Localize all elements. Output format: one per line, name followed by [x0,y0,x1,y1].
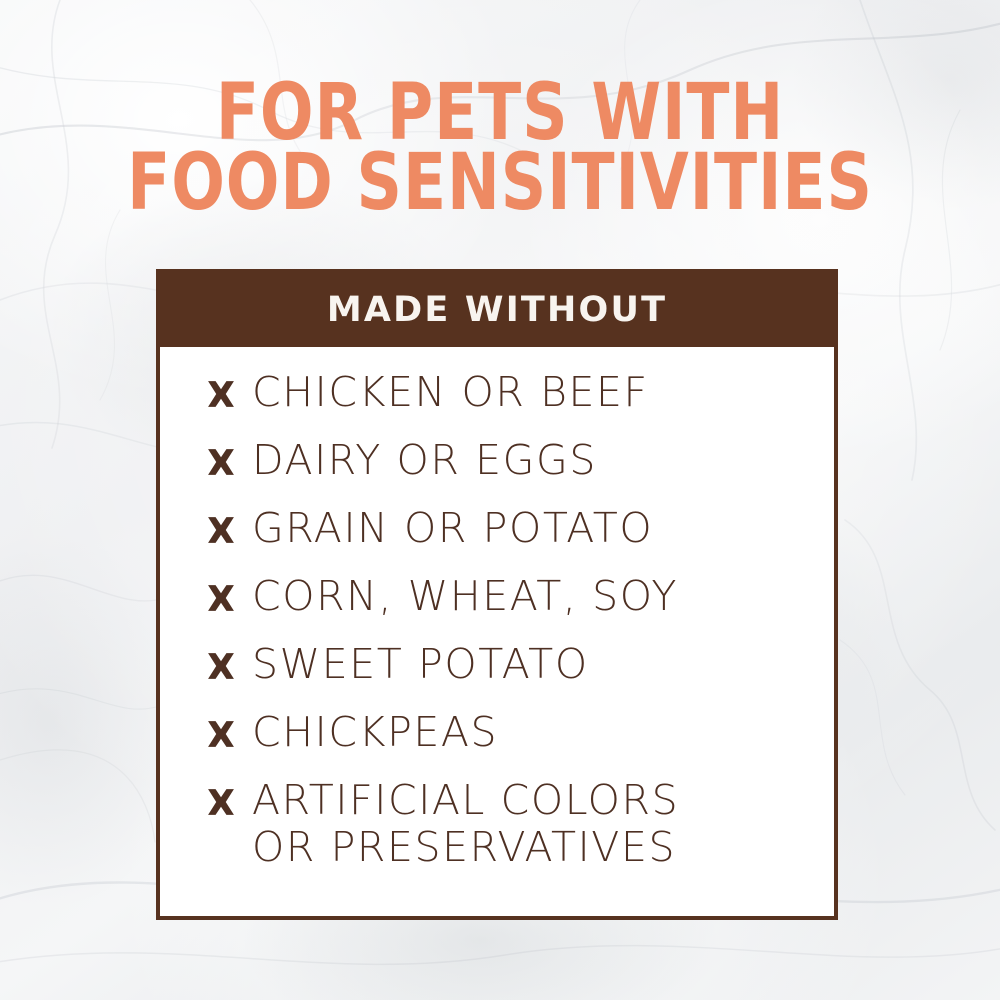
list-item-label: DAIRY OR EGGS [252,437,597,484]
headline: FOR PETS WITH FOOD SENSITIVITIES [0,78,1000,218]
list-item-label: CHICKEN OR BEEF [252,369,649,416]
headline-line-2: FOOD SENSITIVITIES [50,148,950,218]
marketing-poster: FOR PETS WITH FOOD SENSITIVITIES MADE WI… [0,0,1000,1000]
list-item: CHICKEN OR BEEF [204,369,834,437]
list-item: CHICKPEAS [204,709,834,777]
x-mark-icon [204,445,238,479]
list-item: SWEET POTATO [204,641,834,709]
x-mark-icon [204,649,238,683]
list-item: GRAIN OR POTATO [204,505,834,573]
list-item: ARTIFICIAL COLORS OR PRESERVATIVES [204,777,834,887]
list-item-label: CHICKPEAS [252,709,498,756]
made-without-card: MADE WITHOUT CHICKEN OR BEEF [156,269,838,920]
card-body: CHICKEN OR BEEF DAIRY OR EGGS [160,347,834,887]
card-header-title: MADE WITHOUT [327,293,667,328]
list-item: CORN, WHEAT, SOY [204,573,834,641]
list-item: DAIRY OR EGGS [204,437,834,505]
excluded-ingredients-list: CHICKEN OR BEEF DAIRY OR EGGS [204,369,834,887]
x-mark-icon [204,377,238,411]
x-mark-icon [204,785,238,819]
list-item-label: ARTIFICIAL COLORS OR PRESERVATIVES [252,777,679,871]
list-item-label: CORN, WHEAT, SOY [252,573,678,620]
x-mark-icon [204,513,238,547]
list-item-label: GRAIN OR POTATO [252,505,653,552]
x-mark-icon [204,717,238,751]
card-header-bar: MADE WITHOUT [160,273,834,347]
list-item-label: SWEET POTATO [252,641,589,688]
x-mark-icon [204,581,238,615]
